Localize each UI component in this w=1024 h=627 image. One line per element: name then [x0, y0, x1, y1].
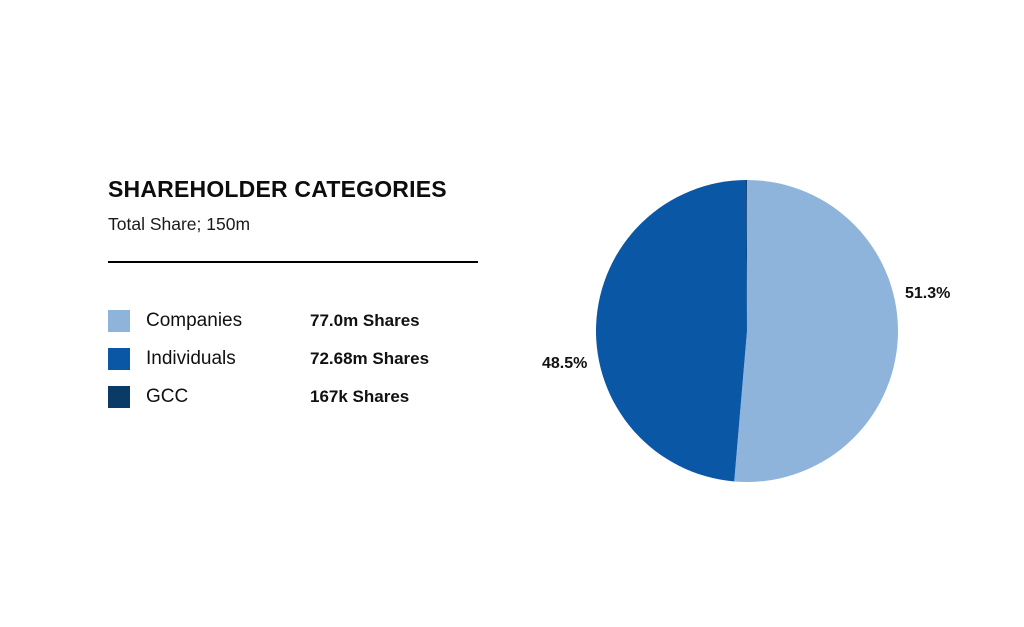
legend-value: 167k Shares — [310, 382, 409, 412]
legend-swatch-icon — [108, 386, 130, 408]
legend-label: GCC — [146, 382, 188, 412]
chart-legend: Companies 77.0m Shares Individuals 72.68… — [108, 306, 528, 420]
pie-slice-individuals[interactable] — [596, 180, 747, 481]
legend-item-gcc[interactable]: GCC 167k Shares — [108, 382, 528, 420]
chart-canvas: SHAREHOLDER CATEGORIES Total Share; 150m… — [0, 0, 1024, 627]
legend-value: 72.68m Shares — [310, 344, 429, 374]
legend-swatch-icon — [108, 310, 130, 332]
legend-swatch-icon — [108, 348, 130, 370]
header-divider — [108, 261, 478, 263]
pie-slice-label-companies: 51.3% — [905, 285, 950, 303]
pie-slice-companies[interactable] — [734, 180, 898, 482]
chart-header: SHAREHOLDER CATEGORIES Total Share; 150m — [108, 176, 508, 235]
pie-slice-label-individuals: 48.5% — [542, 355, 587, 373]
legend-label: Companies — [146, 306, 242, 336]
legend-item-companies[interactable]: Companies 77.0m Shares — [108, 306, 528, 344]
pie-chart-svg — [560, 150, 1000, 520]
legend-label: Individuals — [146, 344, 236, 374]
pie-chart — [560, 150, 1000, 520]
chart-subtitle: Total Share; 150m — [108, 214, 508, 235]
legend-value: 77.0m Shares — [310, 306, 420, 336]
page-title: SHAREHOLDER CATEGORIES — [108, 176, 508, 202]
legend-item-individuals[interactable]: Individuals 72.68m Shares — [108, 344, 528, 382]
